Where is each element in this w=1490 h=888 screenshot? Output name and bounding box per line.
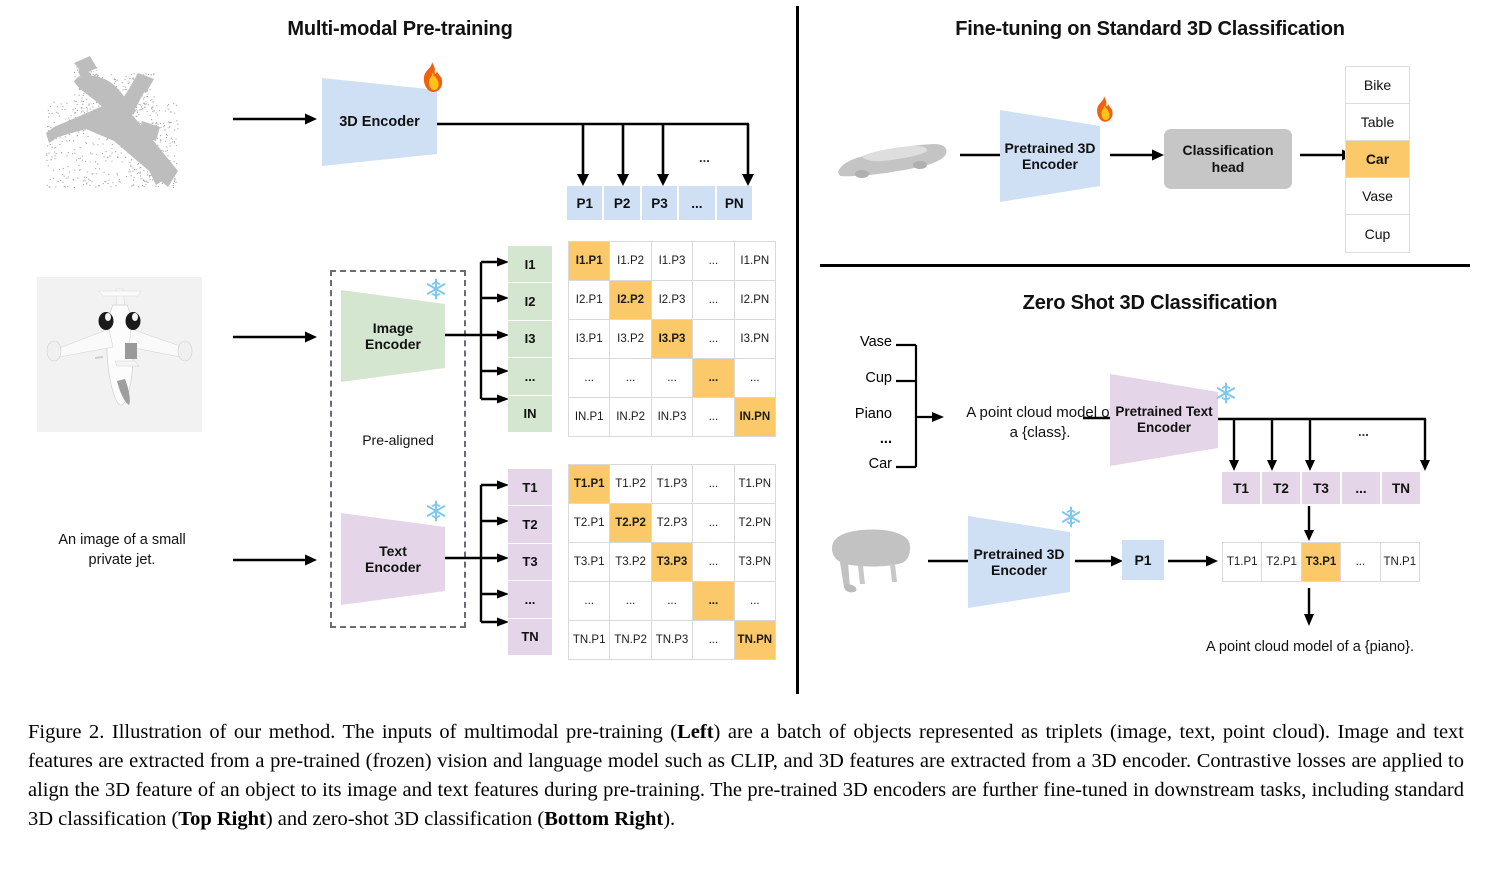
matrix-cell: T3.P1 [569,543,609,581]
zeroshot-result-text: A point cloud model of a {piano}. [1165,638,1455,658]
matrix-cell: T3.PN [735,543,775,581]
matrix-cell: IN.PN [735,398,775,436]
matrix-cell: I1.P3 [652,242,692,280]
figure-diagram: Multi-modal Pre-training Fine-tuning on … [0,0,1490,700]
matrix-cell: ... [693,504,733,542]
i-feature-cell[interactable]: I2 [508,283,552,319]
matrix-cell: I3.P1 [569,320,609,358]
t-feature-cell[interactable]: TN [1382,472,1420,504]
matrix-cell: T2.P3 [652,504,692,542]
matrix-cell: ... [569,582,609,620]
prealigned-label: Pre-aligned [330,432,466,448]
score-cell: TN.P1 [1381,543,1419,581]
p-feature-cell[interactable]: P3 [642,186,677,220]
piano-point-cloud [828,524,920,596]
prompt-class-item: Piano [822,406,892,422]
p-feature-cell[interactable]: PN [717,186,752,220]
i-feature-cell[interactable]: I1 [508,246,552,282]
matrix-cell: ... [693,465,733,503]
horizontal-divider [820,264,1470,267]
text-input-label: An image of a small private jet. [22,531,222,570]
score-cell: T1.P1 [1223,543,1261,581]
pretrained-3d-encoder-label: Pretrained 3D Encoder [1004,140,1095,172]
arrow-encoder-to-classification-head [1110,148,1166,162]
matrix-cell: ... [693,281,733,319]
score-cell: T2.P1 [1262,543,1300,581]
left-panel-title: Multi-modal Pre-training [130,18,670,41]
arrow-encoder-to-p1 [1075,554,1125,568]
snowflake-icon [425,500,447,522]
t-feature-cell[interactable]: T1 [1222,472,1260,504]
snowflake-icon [1215,382,1237,404]
pretrained-text-encoder-block[interactable]: Pretrained Text Encoder [1110,374,1218,466]
i-feature-cell[interactable]: ... [508,358,552,394]
classification-head-label: Classification head [1182,142,1273,176]
classification-head-block[interactable]: Classification head [1164,129,1292,189]
airplane-point-cloud [18,45,233,210]
class-list-item[interactable]: Car [1346,141,1409,178]
arrow-score-to-result [1300,588,1318,628]
matrix-cell: T2.PN [735,504,775,542]
matrix-cell: T1.P1 [569,465,609,503]
pretrained-text-encoder-label: Pretrained Text Encoder [1115,404,1212,435]
pretrained-3d-encoder-block-finetune[interactable]: Pretrained 3D Encoder [1000,110,1100,202]
matrix-cell: I3.PN [735,320,775,358]
matrix-cell: T3.P2 [610,543,650,581]
matrix-cell: T2.P2 [610,504,650,542]
text-similarity-matrix: T1.P1T1.P2T1.P3...T1.PNT2.P1T2.P2T2.P3..… [568,464,776,660]
airplane-render-image [37,277,202,432]
prompt-class-item: ... [822,431,892,447]
caption-emphasis: Top Right [178,808,266,830]
class-list-item[interactable]: Bike [1346,67,1409,104]
t-feature-column: T1 T2 T3 ... TN [508,469,552,655]
matrix-cell: I2.P1 [569,281,609,319]
fire-icon [419,62,445,92]
t-feature-cell[interactable]: T1 [508,469,552,505]
arrow-pointcloud-to-3d-encoder [233,112,319,126]
fire-icon [1093,96,1115,122]
matrix-cell: ... [693,242,733,280]
matrix-cell: I1.PN [735,242,775,280]
p1-feature-label: P1 [1134,552,1151,568]
prompt-class-list: Vase Cup Piano ... Car [822,334,892,486]
classification-output-list: BikeTableCarVaseCup [1345,66,1410,253]
top-right-panel-title: Fine-tuning on Standard 3D Classificatio… [870,18,1430,41]
image-encoder-block[interactable]: Image Encoder [341,290,445,382]
p-feature-cell[interactable]: P1 [567,186,602,220]
matrix-cell: ... [610,359,650,397]
i-feature-cell[interactable]: IN [508,396,552,432]
figure-caption: Figure 2. Illustration of our method. Th… [28,718,1464,834]
matrix-cell: T1.PN [735,465,775,503]
t-feature-cell[interactable]: T2 [1262,472,1300,504]
t-feature-cell[interactable]: T2 [508,506,552,542]
zeroshot-score-row: T1.P1T2.P1T3.P1...TN.P1 [1222,542,1420,582]
matrix-cell: ... [735,359,775,397]
matrix-cell: TN.P3 [652,621,692,659]
caption-emphasis: Left [677,721,713,743]
matrix-cell: T1.P3 [652,465,692,503]
class-list-item[interactable]: Cup [1346,215,1409,252]
class-list-item[interactable]: Table [1346,104,1409,141]
matrix-cell: T1.P2 [610,465,650,503]
matrix-cell: TN.PN [735,621,775,659]
matrix-cell: ... [652,582,692,620]
snowflake-icon [425,278,447,300]
matrix-cell: ... [693,582,733,620]
matrix-cell: I2.P3 [652,281,692,319]
matrix-cell: TN.P2 [610,621,650,659]
prompt-class-item: Car [822,456,892,472]
image-similarity-matrix: I1.P1I1.P2I1.P3...I1.PNI2.P1I2.P2I2.P3..… [568,241,776,437]
matrix-cell: ... [569,359,609,397]
car-point-cloud [832,132,952,184]
t-feature-cell[interactable]: T3 [1302,472,1340,504]
i-feature-cell[interactable]: I3 [508,321,552,357]
arrow-3d-encoder-to-p-features: ... [437,118,757,190]
p-feature-row: P1 P2 P3 ... PN [567,186,752,220]
caption-text: ). [663,808,675,830]
t-feature-cell[interactable]: TN [508,619,552,655]
i-feature-column: I1 I2 I3 ... IN [508,246,552,432]
bracket-classes-to-prompt [894,336,954,488]
caption-emphasis: Bottom Right [544,808,663,830]
score-cell: ... [1341,543,1379,581]
svg-text:...: ... [699,150,710,165]
matrix-cell: ... [735,582,775,620]
matrix-cell: I2.PN [735,281,775,319]
t-feature-cell[interactable]: T3 [508,544,552,580]
caption-text: Figure 2. Illustration of our method. Th… [28,721,677,743]
matrix-cell: I3.P3 [652,320,692,358]
arrow-p1-to-score-row [1168,554,1220,568]
matrix-cell: I1.P1 [569,242,609,280]
matrix-cell: IN.P2 [610,398,650,436]
matrix-cell: IN.P3 [652,398,692,436]
svg-text:...: ... [1358,424,1369,439]
matrix-cell: T3.P3 [652,543,692,581]
matrix-cell: I3.P2 [610,320,650,358]
text-encoder-label: Text Encoder [365,543,421,575]
arrow-t-row-to-score-row [1300,506,1318,542]
caption-text: ) and zero-shot 3D classification ( [266,808,544,830]
vertical-divider [796,6,799,694]
matrix-cell: ... [652,359,692,397]
matrix-cell: ... [693,320,733,358]
matrix-cell: T2.P1 [569,504,609,542]
pretrained-3d-encoder-block-zeroshot[interactable]: Pretrained 3D Encoder [968,516,1070,608]
image-encoder-label: Image Encoder [365,320,421,352]
t-feature-cell[interactable]: ... [508,581,552,617]
encoder-3d-label: 3D Encoder [339,114,420,131]
prompt-class-item: Cup [822,370,892,386]
matrix-cell: ... [610,582,650,620]
snowflake-icon [1060,506,1082,528]
matrix-cell: ... [693,543,733,581]
p1-feature-block[interactable]: P1 [1122,540,1164,580]
matrix-cell: I2.P2 [610,281,650,319]
bottom-right-panel-title: Zero Shot 3D Classification [900,292,1400,315]
t-feature-row-zeroshot: T1 T2 T3 ... TN [1222,472,1420,504]
prompt-class-item: Vase [822,334,892,350]
p-feature-cell[interactable]: ... [679,186,714,220]
matrix-cell: TN.P1 [569,621,609,659]
p-feature-cell[interactable]: P2 [604,186,639,220]
arrow-text-encoder-to-t-row: ... [1218,414,1433,474]
pretrained-3d-encoder-label: Pretrained 3D Encoder [973,546,1064,578]
score-cell: T3.P1 [1302,543,1340,581]
matrix-cell: ... [693,398,733,436]
class-list-item[interactable]: Vase [1346,178,1409,215]
text-encoder-block[interactable]: Text Encoder [341,513,445,605]
matrix-cell: I1.P2 [610,242,650,280]
arrow-text-to-text-encoder [233,553,319,567]
t-feature-cell[interactable]: ... [1342,472,1380,504]
matrix-cell: ... [693,359,733,397]
matrix-cell: ... [693,621,733,659]
matrix-cell: IN.P1 [569,398,609,436]
arrow-image-to-image-encoder [233,330,319,344]
